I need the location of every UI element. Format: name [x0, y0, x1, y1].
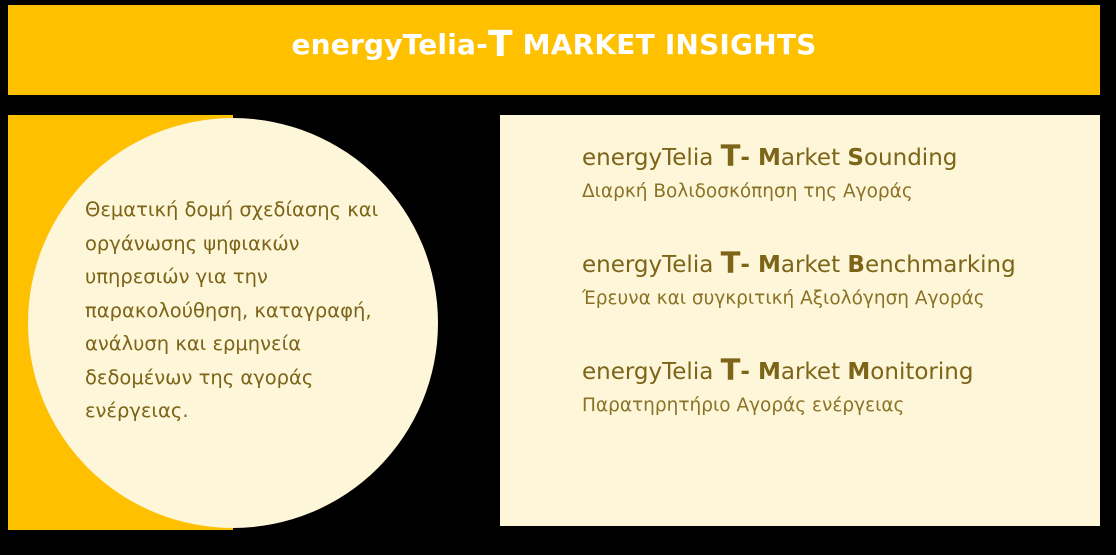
- service-cap-s: S: [847, 145, 864, 171]
- service-t-mark: T: [721, 353, 741, 387]
- service-cap-m: M: [758, 252, 781, 278]
- service-subtitle-market-sounding: Διαρκή Βολιδοσκόπηση της Αγοράς: [582, 177, 1082, 207]
- service-brand: energyTelia: [582, 145, 721, 171]
- service-item-market-benchmarking: energyTelia T- Market Benchmarking Έρευν…: [582, 249, 1082, 314]
- service-item-market-monitoring: energyTelia T- Market Monitoring Παρατηρ…: [582, 356, 1082, 421]
- service-t-mark: T: [721, 139, 741, 173]
- page-title-prefix: energyTelia-: [291, 28, 488, 61]
- service-cap-b: B: [847, 252, 865, 278]
- service-word-market: arket: [781, 252, 848, 278]
- service-word-market: arket: [781, 359, 848, 385]
- service-dash: -: [740, 252, 758, 278]
- page-title: energyTelia-T MARKET INSIGHTS: [291, 27, 816, 63]
- service-title-market-monitoring: energyTelia T- Market Monitoring: [582, 356, 1082, 388]
- service-word-sounding: ounding: [864, 145, 957, 171]
- service-subtitle-market-benchmarking: Έρευνα και συγκριτική Αξιολόγηση Αγοράς: [582, 284, 1082, 314]
- service-brand: energyTelia: [582, 252, 721, 278]
- service-word-monitoring: onitoring: [870, 359, 973, 385]
- service-word-market: arket: [781, 145, 848, 171]
- service-cap-m: M: [758, 145, 781, 171]
- right-services-panel: energyTelia T- Market Sounding Διαρκή Βο…: [500, 115, 1100, 526]
- service-word-benchmarking: enchmarking: [865, 252, 1016, 278]
- service-brand: energyTelia: [582, 359, 721, 385]
- service-title-market-benchmarking: energyTelia T- Market Benchmarking: [582, 249, 1082, 281]
- service-title-market-sounding: energyTelia T- Market Sounding: [582, 142, 1082, 174]
- header-banner: energyTelia-T MARKET INSIGHTS: [8, 5, 1100, 95]
- page-title-t-mark: T: [488, 24, 513, 65]
- service-t-mark: T: [721, 246, 741, 280]
- service-subtitle-market-monitoring: Παρατηρητήριο Αγοράς ενέργειας: [582, 391, 1082, 421]
- service-dash: -: [740, 145, 758, 171]
- service-dash: -: [740, 359, 758, 385]
- page-title-suffix: MARKET INSIGHTS: [513, 28, 817, 61]
- service-item-market-sounding: energyTelia T- Market Sounding Διαρκή Βο…: [582, 142, 1082, 207]
- service-cap-m2: M: [847, 359, 870, 385]
- services-list: energyTelia T- Market Sounding Διαρκή Βο…: [582, 142, 1082, 421]
- slide-canvas: energyTelia-T MARKET INSIGHTS Θεματική δ…: [0, 0, 1116, 555]
- left-description-text: Θεματική δομή σχεδίασης και οργάνωσης ψη…: [85, 193, 390, 428]
- service-cap-m: M: [758, 359, 781, 385]
